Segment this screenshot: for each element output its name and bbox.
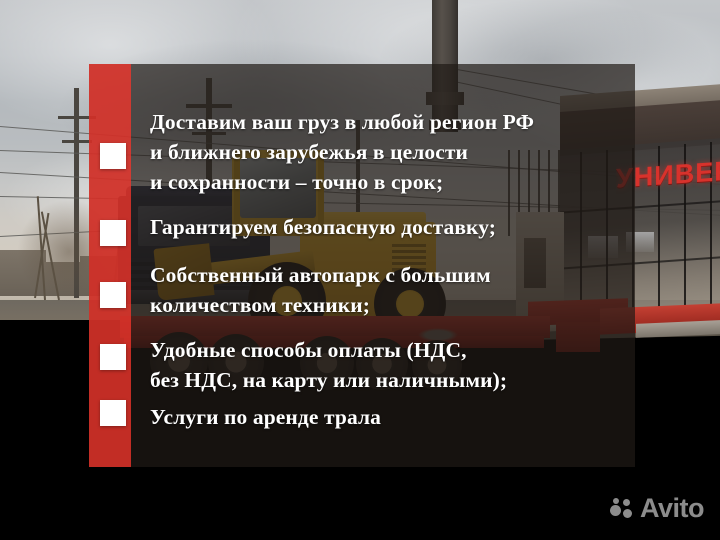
bullet-item-own-vehicle-fleet: Собственный автопарк с большим количеств… bbox=[150, 260, 491, 320]
bullet-marker-1 bbox=[100, 143, 126, 169]
bullet-marker-4 bbox=[100, 344, 126, 370]
avito-dots-logo-icon bbox=[610, 498, 634, 520]
bullet-marker-3 bbox=[100, 282, 126, 308]
bullet-list: Доставим ваш груз в любой регион РФ и бл… bbox=[150, 64, 620, 467]
bullet-item-delivery-any-region: Доставим ваш груз в любой регион РФ и бл… bbox=[150, 107, 534, 197]
avito-wordmark: Avito bbox=[640, 495, 704, 522]
pole-crossarm bbox=[62, 140, 92, 143]
bullet-marker-2 bbox=[100, 220, 126, 246]
bullet-item-payment-methods: Удобные способы оплаты (НДС, без НДС, на… bbox=[150, 335, 507, 395]
avito-watermark: Avito bbox=[610, 495, 704, 522]
bullet-item-trailer-rental-services: Услуги по аренде трала bbox=[150, 402, 381, 432]
bullet-marker-5 bbox=[100, 400, 126, 426]
banner-image: УНИВЕР bbox=[0, 0, 720, 540]
bullet-item-safe-delivery-guarantee: Гарантируем безопасную доставку; bbox=[150, 212, 496, 242]
